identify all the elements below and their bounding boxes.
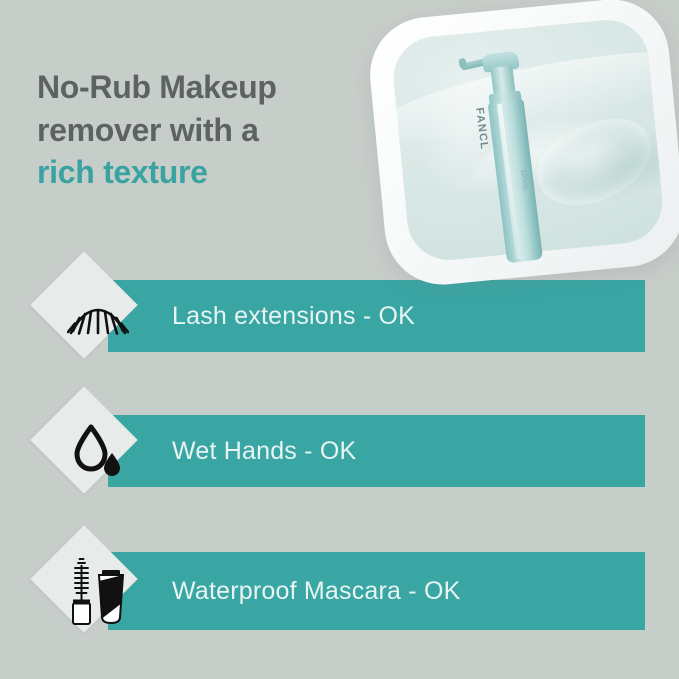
gel-highlight-right: [526, 107, 662, 218]
feature-bar: Wet Hands - OK: [108, 415, 645, 487]
product-photo: FANCL 120mL: [355, 0, 679, 300]
page-title: No-Rub Makeup remover with a rich textur…: [37, 66, 367, 194]
feature-label: Wet Hands - OK: [172, 415, 356, 487]
eyelashes-icon: [47, 265, 149, 367]
water-drop-icon: [47, 400, 149, 502]
feature-label: Waterproof Mascara - OK: [172, 552, 460, 630]
mascara-wand-and-tube-icon: [47, 539, 149, 641]
headline-line-2: remover with a: [37, 109, 367, 152]
infographic-canvas: No-Rub Makeup remover with a rich textur…: [0, 0, 679, 679]
headline-line-1: No-Rub Makeup: [37, 66, 367, 109]
feature-bar: Waterproof Mascara - OK: [108, 552, 645, 630]
headline-line-3-accent: rich texture: [37, 151, 367, 194]
brand-label: FANCL: [473, 107, 489, 138]
